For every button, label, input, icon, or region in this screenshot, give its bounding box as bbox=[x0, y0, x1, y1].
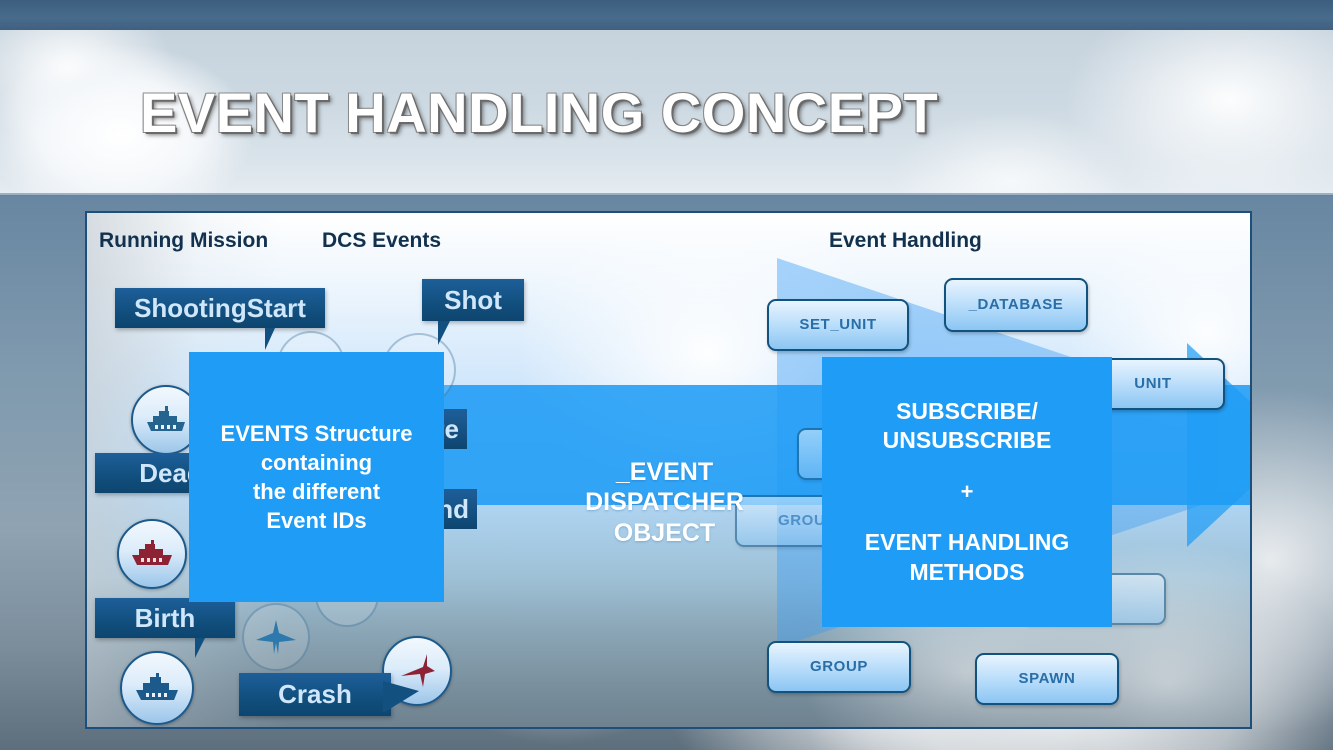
jet-icon-circle-mid bbox=[242, 603, 310, 671]
jet-icon bbox=[254, 618, 298, 656]
diagram-frame: Running Mission DCS Events Event Handlin… bbox=[85, 211, 1252, 729]
overlay-event-dispatcher: _EVENT DISPATCHER OBJECT bbox=[542, 445, 787, 560]
ship-icon bbox=[144, 405, 188, 435]
overlay-line: EVENTS Structure bbox=[221, 419, 413, 448]
box-label: UNIT bbox=[1134, 375, 1171, 392]
box-label: SPAWN bbox=[1019, 670, 1076, 687]
overlay-events-structure: EVENTS Structure containing the differen… bbox=[189, 352, 444, 602]
box-label: _DATABASE bbox=[969, 296, 1064, 313]
overlay-line: EVENT HANDLING bbox=[861, 528, 1073, 557]
callout-label: Birth bbox=[135, 603, 196, 634]
ship-icon-circle-3 bbox=[120, 651, 194, 725]
callout-crash: Crash bbox=[239, 673, 391, 716]
ship-icon bbox=[133, 672, 181, 704]
page-title: EVENT HANDLING CONCEPT bbox=[140, 80, 938, 145]
ship-icon bbox=[129, 539, 175, 569]
overlay-line: Event IDs bbox=[266, 506, 366, 535]
overlay-plus: + bbox=[961, 478, 974, 506]
callout-shootingstart: ShootingStart bbox=[115, 288, 325, 328]
overlay-line: DISPATCHER bbox=[585, 487, 744, 518]
overlay-line: the different bbox=[253, 477, 380, 506]
overlay-line: containing bbox=[261, 448, 372, 477]
callout-tail bbox=[383, 681, 419, 713]
callout-shot: Shot bbox=[422, 279, 524, 321]
top-band bbox=[0, 0, 1333, 30]
overlay-line: METHODS bbox=[906, 558, 1029, 587]
callout-label: Crash bbox=[278, 679, 352, 710]
header-running-mission: Running Mission bbox=[99, 229, 268, 253]
callout-tail bbox=[265, 328, 301, 350]
callout-label: ShootingStart bbox=[134, 293, 306, 324]
box-label: SET_UNIT bbox=[799, 316, 876, 333]
box-spawn[interactable]: SPAWN bbox=[975, 653, 1119, 705]
banner-divider bbox=[0, 193, 1333, 196]
overlay-line: _EVENT bbox=[616, 457, 713, 488]
box-label: GROUP bbox=[810, 658, 868, 675]
box-set-unit[interactable]: SET_UNIT bbox=[767, 299, 909, 351]
callout-tail bbox=[195, 638, 235, 658]
box-group[interactable]: GROUP bbox=[767, 641, 911, 693]
callout-tail bbox=[438, 321, 472, 345]
overlay-line: SUBSCRIBE/ bbox=[892, 397, 1042, 426]
overlay-line: OBJECT bbox=[614, 518, 715, 549]
overlay-line: UNSUBSCRIBE bbox=[879, 426, 1056, 455]
header-dcs-events: DCS Events bbox=[322, 229, 441, 253]
overlay-subscribe-methods: SUBSCRIBE/ UNSUBSCRIBE + EVENT HANDLING … bbox=[822, 357, 1112, 627]
header-event-handling: Event Handling bbox=[829, 229, 982, 253]
ship-icon-circle-2 bbox=[117, 519, 187, 589]
box-database[interactable]: _DATABASE bbox=[944, 278, 1088, 332]
callout-label: Shot bbox=[444, 285, 502, 316]
callout-birth: Birth bbox=[95, 598, 235, 638]
